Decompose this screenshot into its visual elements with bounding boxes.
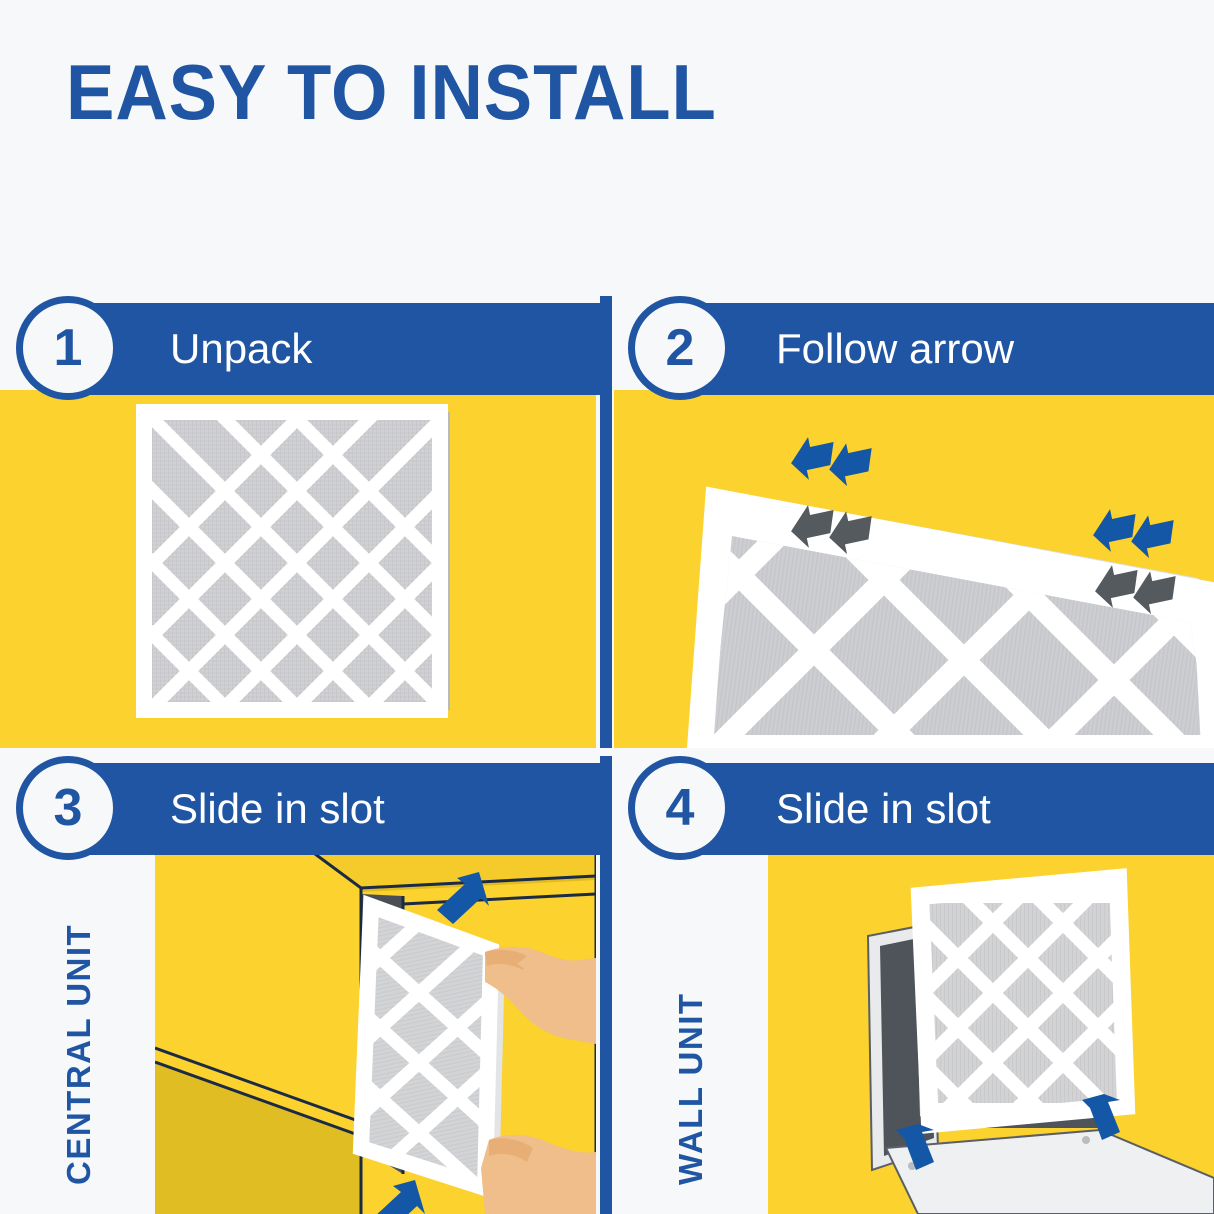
step-4-number-badge: 4 <box>628 756 732 860</box>
wall-unit-filter-graphic <box>768 848 1214 1214</box>
step-1-header-bar: Unpack <box>60 303 600 395</box>
central-unit-filter-slot-graphic <box>155 848 596 1214</box>
panel-2-illustration <box>614 390 1214 748</box>
infographic-root: EASY TO INSTALL <box>0 0 1214 1214</box>
step-4-number: 4 <box>635 763 725 853</box>
step-3-header-bar: Slide in slot <box>60 763 600 855</box>
page-title: EASY TO INSTALL <box>66 50 717 134</box>
step-4-label: Slide in slot <box>776 763 991 855</box>
panel-4-illustration <box>768 848 1214 1214</box>
unit-label-central-unit: CENTRAL UNIT <box>60 924 98 1185</box>
column-divider-bottom <box>600 756 612 1214</box>
flat-air-filter-graphic <box>0 390 596 748</box>
airflow-arrow-icon <box>1088 497 1180 569</box>
step-2-label: Follow arrow <box>776 303 1014 395</box>
step-3-number-badge: 3 <box>16 756 120 860</box>
step-2-number-badge: 2 <box>628 296 732 400</box>
unit-label-wall-unit: WALL UNIT <box>672 992 710 1185</box>
step-3-label: Slide in slot <box>170 763 385 855</box>
panel-1-illustration <box>0 390 596 748</box>
step-1-number-badge: 1 <box>16 296 120 400</box>
airflow-arrow-icon <box>786 425 878 497</box>
panel-3-illustration <box>155 848 596 1214</box>
step-1-label: Unpack <box>170 303 312 395</box>
step-1-number: 1 <box>23 303 113 393</box>
tilted-air-filter-graphic <box>614 390 1214 748</box>
step-2-number: 2 <box>635 303 725 393</box>
step-2-header-bar: Follow arrow <box>672 303 1214 395</box>
step-4-header-bar: Slide in slot <box>672 763 1214 855</box>
step-3-number: 3 <box>23 763 113 853</box>
column-divider-top <box>600 296 612 748</box>
